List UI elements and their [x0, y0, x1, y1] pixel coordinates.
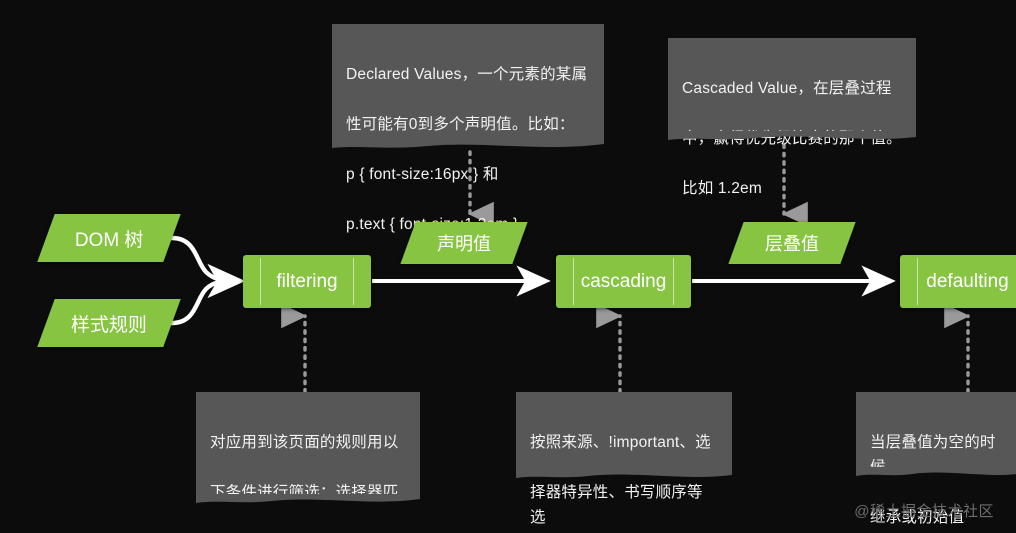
node-label: 样式规则: [71, 310, 147, 337]
node-cascaded-value[interactable]: 层叠值: [728, 222, 855, 264]
node-filtering[interactable]: filtering: [243, 255, 371, 308]
note-declared-values: Declared Values，一个元素的某属 性可能有0到多个声明值。比如： …: [332, 24, 604, 142]
node-label: DOM 树: [75, 225, 144, 252]
note-line: Declared Values，一个元素的某属: [346, 62, 590, 87]
note-line: Cascaded Value，在层叠过程: [682, 76, 902, 101]
note-line: 择器特异性、书写顺序等选: [530, 480, 718, 530]
node-label: filtering: [276, 271, 337, 293]
note-line: 当层叠值为空的时候: [870, 430, 1010, 480]
node-defaulting[interactable]: defaulting: [900, 255, 1016, 308]
note-line: 对应用到该页面的规则用以: [210, 430, 406, 455]
node-label: 声明值: [437, 230, 491, 256]
node-label: cascading: [581, 271, 667, 293]
node-label: 层叠值: [765, 230, 819, 256]
note-line: 按照来源、!important、选: [530, 430, 718, 455]
note-line: p { font-size:16px } 和: [346, 162, 590, 187]
diagram-canvas: Declared Values，一个元素的某属 性可能有0到多个声明值。比如： …: [0, 0, 1016, 533]
node-dom-tree[interactable]: DOM 树: [37, 214, 180, 262]
note-cascaded-value: Cascaded Value，在层叠过程 中，赢得优先级比赛的那个值。 比如 1…: [668, 38, 916, 134]
note-defaulting: 当层叠值为空的时候 继承或初始值: [856, 392, 1016, 470]
note-line: 性可能有0到多个声明值。比如：: [346, 112, 590, 137]
note-line: 比如 1.2em: [682, 176, 902, 201]
note-filtering: 对应用到该页面的规则用以 下条件进行筛选：选择器匹 配、属性有效、符合当前 me…: [196, 392, 420, 497]
node-style-rules[interactable]: 样式规则: [37, 299, 180, 347]
note-cascading: 按照来源、!important、选 择器特异性、书写顺序等选 出优先级最高的一个…: [516, 392, 732, 472]
node-declared-value[interactable]: 声明值: [400, 222, 527, 264]
node-label: defaulting: [926, 271, 1008, 293]
torn-edge: [332, 139, 604, 153]
watermark: @稀土掘金技术社区: [854, 500, 994, 521]
node-cascading[interactable]: cascading: [556, 255, 691, 308]
note-line: 中，赢得优先级比赛的那个值。: [682, 126, 902, 151]
note-line: 下条件进行筛选：选择器匹: [210, 480, 406, 505]
